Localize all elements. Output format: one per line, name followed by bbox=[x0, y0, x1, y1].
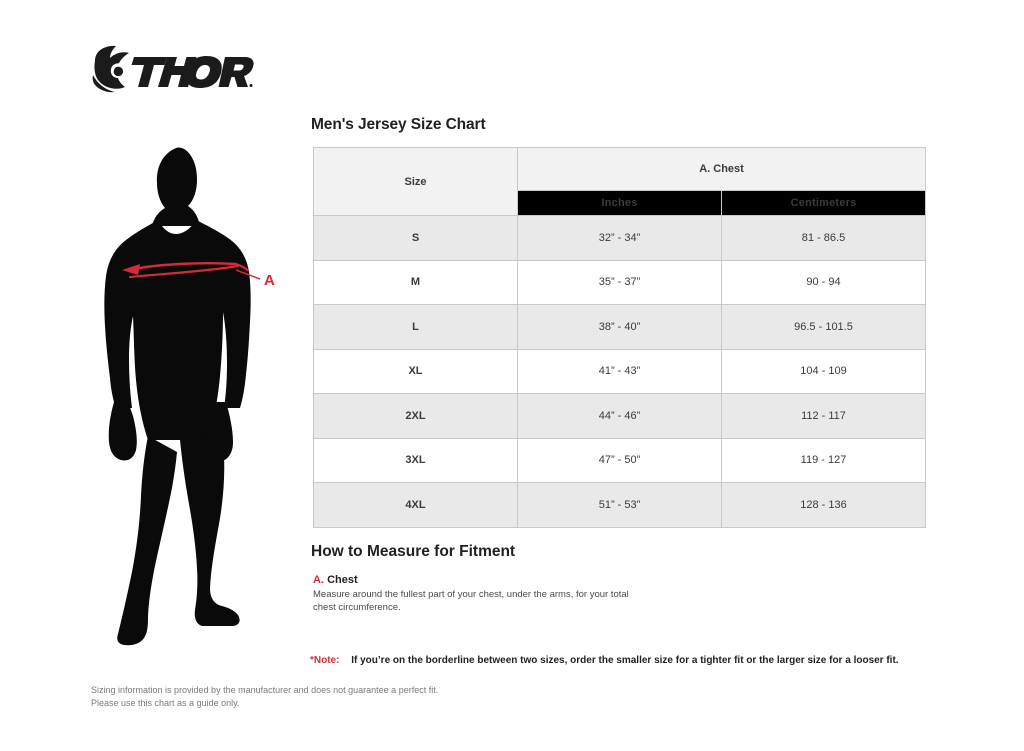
disclaimer: Sizing information is provided by the ma… bbox=[91, 684, 438, 710]
cell-size: XL bbox=[314, 349, 518, 394]
cell-size: S bbox=[314, 216, 518, 261]
cell-size: L bbox=[314, 305, 518, 350]
thor-logo bbox=[92, 44, 254, 96]
table-body: S32” - 34”81 - 86.5M35” - 37”90 - 94L38”… bbox=[314, 216, 926, 528]
measure-item-letter: A. bbox=[313, 574, 324, 586]
cell-chest-centimeters: 112 - 117 bbox=[722, 394, 926, 439]
column-header-size: Size bbox=[314, 148, 518, 216]
cell-chest-centimeters: 81 - 86.5 bbox=[722, 216, 926, 261]
table-head: Size A. Chest Inches Centimeters bbox=[314, 148, 926, 216]
size-chart-table: Size A. Chest Inches Centimeters S32” - … bbox=[313, 147, 926, 528]
cell-chest-inches: 41” - 43” bbox=[518, 349, 722, 394]
how-to-measure-title: How to Measure for Fitment bbox=[311, 543, 515, 561]
cell-chest-inches: 32” - 34” bbox=[518, 216, 722, 261]
male-body-silhouette: A bbox=[96, 140, 296, 650]
cell-chest-inches: 38” - 40” bbox=[518, 305, 722, 350]
table-row: XL41” - 43”104 - 109 bbox=[314, 349, 926, 394]
note-text: If you’re on the borderline between two … bbox=[351, 655, 898, 666]
cell-chest-centimeters: 119 - 127 bbox=[722, 438, 926, 483]
column-header-inches: Inches bbox=[518, 191, 722, 216]
measure-item-description: Measure around the fullest part of your … bbox=[313, 589, 643, 614]
measure-item-name: Chest bbox=[327, 574, 358, 586]
cell-chest-centimeters: 128 - 136 bbox=[722, 483, 926, 528]
cell-chest-centimeters: 96.5 - 101.5 bbox=[722, 305, 926, 350]
table-row: M35” - 37”90 - 94 bbox=[314, 260, 926, 305]
note-tag: *Note: bbox=[310, 655, 339, 666]
cell-chest-centimeters: 90 - 94 bbox=[722, 260, 926, 305]
cell-size: 4XL bbox=[314, 483, 518, 528]
table-header-row-1: Size A. Chest bbox=[314, 148, 926, 191]
table-row: 2XL44” - 46”112 - 117 bbox=[314, 394, 926, 439]
cell-chest-inches: 47” - 50” bbox=[518, 438, 722, 483]
cell-size: 3XL bbox=[314, 438, 518, 483]
table-row: S32” - 34”81 - 86.5 bbox=[314, 216, 926, 261]
table-row: L38” - 40”96.5 - 101.5 bbox=[314, 305, 926, 350]
cell-size: M bbox=[314, 260, 518, 305]
column-header-group-chest: A. Chest bbox=[518, 148, 926, 191]
cell-chest-centimeters: 104 - 109 bbox=[722, 349, 926, 394]
disclaimer-line-1: Sizing information is provided by the ma… bbox=[91, 684, 438, 697]
cell-chest-inches: 51” - 53” bbox=[518, 483, 722, 528]
measure-marker-label: A bbox=[264, 272, 275, 289]
table-row: 3XL47” - 50”119 - 127 bbox=[314, 438, 926, 483]
cell-size: 2XL bbox=[314, 394, 518, 439]
table-row: 4XL51” - 53”128 - 136 bbox=[314, 483, 926, 528]
disclaimer-line-2: Please use this chart as a guide only. bbox=[91, 697, 438, 710]
cell-chest-inches: 44” - 46” bbox=[518, 394, 722, 439]
page-title: Men's Jersey Size Chart bbox=[311, 116, 486, 134]
column-header-centimeters: Centimeters bbox=[722, 191, 926, 216]
cell-chest-inches: 35” - 37” bbox=[518, 260, 722, 305]
note-line: *Note: If you’re on the borderline betwe… bbox=[310, 655, 899, 666]
measure-item-label: A. Chest bbox=[313, 574, 358, 586]
